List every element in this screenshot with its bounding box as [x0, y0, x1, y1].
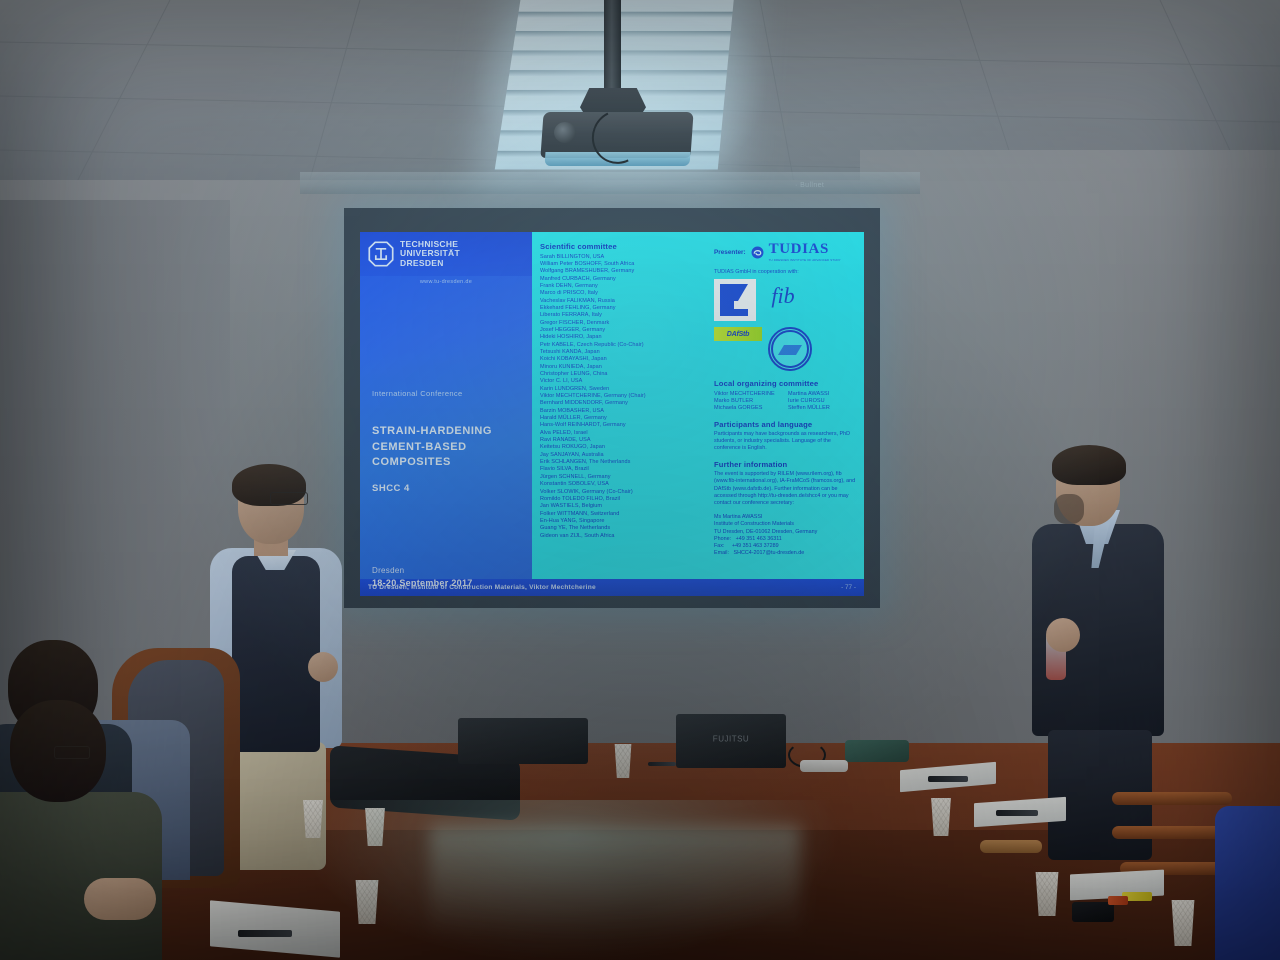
committee-member: Frank DEHN, Germany [540, 283, 708, 290]
projection-screen: TECHNISCHE UNIVERSITÄT DRESDEN www.tu-dr… [360, 232, 864, 596]
committee-member: Sarah BILLINGTON, USA [540, 254, 708, 261]
committee-member: Jürgen SCHNELL, Germany [540, 474, 708, 481]
contact-email: Email: SHCC4-2017@tu-dresden.de [714, 550, 856, 557]
attendee-front [0, 700, 155, 960]
committee-member: Ravi RANADE, USA [540, 437, 708, 444]
tu-dresden-wordmark: TECHNISCHE UNIVERSITÄT DRESDEN [400, 240, 460, 269]
local-committee-member: Martina AWASSI [788, 391, 856, 398]
presenter-right-hands [1046, 618, 1080, 652]
presenter-label: Presenter: [714, 249, 746, 256]
tu-dresden-url: www.tu-dresden.de [360, 279, 532, 285]
committee-member: Barzin MOBASHER, USA [540, 408, 708, 415]
committee-member: Wolfgang BRAMESHUBER, Germany [540, 268, 708, 275]
committee-member: Gregor FISCHER, Denmark [540, 320, 708, 327]
scientific-committee-heading: Scientific committee [540, 242, 708, 251]
dafstb-logo-icon: DAfStb [714, 327, 762, 341]
scientific-committee-column: Scientific committee Sarah BILLINGTON, U… [540, 242, 708, 590]
projector-mount-pole [604, 0, 621, 96]
local-committee-member: Marko BUTLER [714, 398, 782, 405]
tudias-swirl-icon [751, 246, 764, 259]
slide-page-number: - 77 - [841, 584, 856, 591]
rilem-logo-icon [714, 279, 756, 321]
committee-member: Josef HEGGER, Germany [540, 327, 708, 334]
tu-dresden-logo-band: TECHNISCHE UNIVERSITÄT DRESDEN [360, 232, 532, 276]
local-committee-heading: Local organizing committee [714, 379, 856, 388]
ib-institut-logo-icon [768, 327, 812, 371]
slide-right-panel: Scientific committee Sarah BILLINGTON, U… [532, 232, 864, 596]
slide-kicker: International Conference [372, 389, 520, 398]
contact-phone: Phone: +49 351 463 36311 [714, 536, 856, 543]
contact-address: TU Dresden, DE-01062 Dresden, Germany [714, 529, 856, 536]
presenter-right-beard [1054, 494, 1084, 524]
committee-member: Liberato FERRARA, Italy [540, 312, 708, 319]
committee-member: Guang YE, The Netherlands [540, 525, 708, 532]
committee-member: Jan WASTIELS, Belgium [540, 503, 708, 510]
local-committee-right: Martina AWASSIIurie CUROSUSteffen MÜLLER [788, 391, 856, 413]
wooden-holder [980, 840, 1042, 853]
slide-info-column: Presenter: TUDIAS TU DRESDEN INSTITUTE O… [714, 242, 856, 590]
committee-member: Volker SLOWIK, Germany (Co-Chair) [540, 489, 708, 496]
committee-member: En-Hua YANG, Singapore [540, 518, 708, 525]
contact-name: Ms Martina AWASSI [714, 514, 856, 521]
participants-heading: Participants and language [714, 420, 856, 429]
committee-member: Gideon van ZIJL, South Africa [540, 533, 708, 540]
committee-member: Victor C. LI, USA [540, 378, 708, 385]
committee-member: Keitetsu ROKUGO, Japan [540, 444, 708, 451]
attendee-blue-right [1215, 806, 1280, 960]
slide-title: STRAIN-HARDENING CEMENT-BASED COMPOSITES [372, 424, 520, 471]
committee-member: Minoru KUNIEDA, Japan [540, 364, 708, 371]
committee-member: Manfred CURBACH, Germany [540, 276, 708, 283]
fib-logo-icon: fib [762, 279, 804, 313]
presenter-right-hair [1052, 445, 1126, 485]
presenter-left-hands [308, 652, 338, 682]
slide-dates: 18-20 September 2017 [372, 578, 520, 588]
scientific-committee-list: Sarah BILLINGTON, USAWilliam Peter BOSHO… [540, 254, 708, 540]
laptop-fujitsu: FUJITSU [676, 714, 786, 768]
committee-member: Harald MÜLLER, Germany [540, 415, 708, 422]
slide-left-panel: TECHNISCHE UNIVERSITÄT DRESDEN www.tu-dr… [360, 232, 532, 596]
tudias-wordmark: TUDIAS [769, 242, 841, 257]
conference-room-photo: · Bullnet TECHN [0, 0, 1280, 960]
committee-member: Marco di PRISCO, Italy [540, 290, 708, 297]
tu-dresden-mark-icon [368, 241, 394, 267]
contact-institute: Institute of Construction Materials [714, 521, 856, 528]
local-committee-member: Steffen MÜLLER [788, 405, 856, 412]
committee-member: Erik SCHLANGEN, The Netherlands [540, 459, 708, 466]
glasses-icon [54, 746, 90, 759]
presentation-slide: TECHNISCHE UNIVERSITÄT DRESDEN www.tu-dr… [360, 232, 864, 596]
valance-marking: · Bullnet [795, 182, 855, 191]
committee-member: Hans-Wolf REINHARDT, Germany [540, 422, 708, 429]
committee-member: Romildo TOLEDO FILHO, Brazil [540, 496, 708, 503]
presenter-row: Presenter: TUDIAS TU DRESDEN INSTITUTE O… [714, 242, 856, 262]
committee-member: Jay SANJAYAN, Australia [540, 452, 708, 459]
committee-member: Vacheslav FALIKMAN, Russia [540, 298, 708, 305]
pen [648, 762, 676, 766]
committee-member: Ekkehard FEHLING, Germany [540, 305, 708, 312]
committee-member: Karin LUNDGREN, Sweden [540, 386, 708, 393]
committee-member: Tetsushi KANDA, Japan [540, 349, 708, 356]
cooperation-label: TUDIAS GmbH in cooperation with: [714, 269, 856, 275]
committee-member: Flavio SILVA, Brazil [540, 466, 708, 473]
committee-member: Petr KABELE, Czech Republic (Co-Chair) [540, 342, 708, 349]
attendee-front-arm [84, 878, 156, 920]
mobile-phone [1072, 902, 1114, 922]
participants-text: Participants may have backgrounds as res… [714, 431, 856, 453]
pen [996, 810, 1038, 816]
pen [238, 930, 292, 937]
presenter-left-vest [232, 556, 320, 752]
local-committee-columns: Viktor MECHTCHERINEMarko BUTLERMichaela … [714, 391, 856, 413]
local-committee-left: Viktor MECHTCHERINEMarko BUTLERMichaela … [714, 391, 782, 413]
tudias-tagline: TU DRESDEN INSTITUTE OF ADVANCED STUDY [769, 258, 841, 262]
slide-edition: SHCC 4 [372, 483, 520, 494]
committee-member: Hideki HOSHIRO, Japan [540, 334, 708, 341]
slide-city: Dresden [372, 566, 520, 575]
projector-lens-icon [554, 122, 576, 143]
committee-member: Alva PELED, Israel [540, 430, 708, 437]
further-information-text: The event is supported by RILEM (www.ril… [714, 471, 856, 507]
committee-member: Bernhard MIDDENDORF, Germany [540, 400, 708, 407]
committee-member: William Peter BOSHOFF, South Africa [540, 261, 708, 268]
local-committee-member: Michaela GORGES [714, 405, 782, 412]
committee-member: Folker WITTMANN, Switzerland [540, 511, 708, 518]
partner-logo-grid: fib DAfStb [714, 279, 854, 371]
highlighter-orange [1108, 896, 1128, 905]
laptop-left [458, 718, 588, 764]
committee-member: Koichi KOBAYASHI, Japan [540, 356, 708, 363]
teal-case [845, 740, 909, 762]
committee-member: Christopher LEUNG, China [540, 371, 708, 378]
pen [928, 776, 968, 782]
glasses-icon [270, 492, 308, 505]
further-information-heading: Further information [714, 460, 856, 469]
contact-fax: Fax: +49 351 463 37289 [714, 543, 856, 550]
committee-member: Konstantin SOBOLEV, USA [540, 481, 708, 488]
remote-control [800, 760, 848, 772]
committee-member: Viktor MECHTCHERINE, Germany (Chair) [540, 393, 708, 400]
local-committee-member: Viktor MECHTCHERINE [714, 391, 782, 398]
